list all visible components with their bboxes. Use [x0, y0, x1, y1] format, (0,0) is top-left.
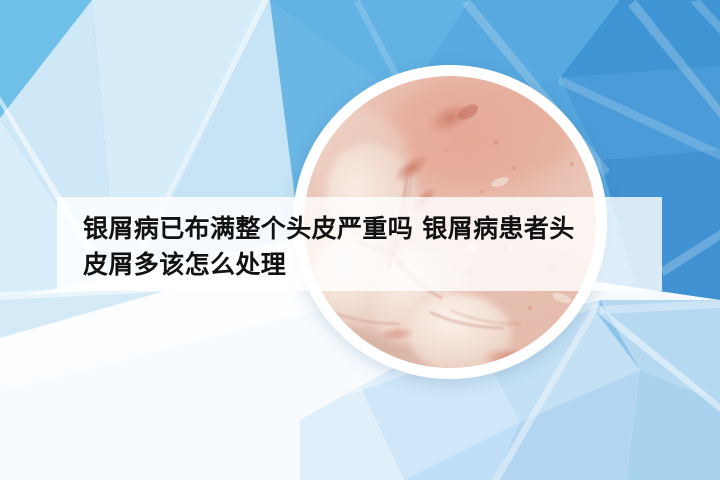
caption-line-2: 皮屑多该怎么处理 [83, 247, 636, 283]
caption-panel: 银屑病已布满整个头皮严重吗 银屑病患者头 皮屑多该怎么处理 [57, 197, 662, 291]
poster-canvas: 银屑病已布满整个头皮严重吗 银屑病患者头 皮屑多该怎么处理 [0, 0, 720, 480]
caption-line-1: 银屑病已布满整个头皮严重吗 银屑病患者头 [83, 211, 636, 247]
